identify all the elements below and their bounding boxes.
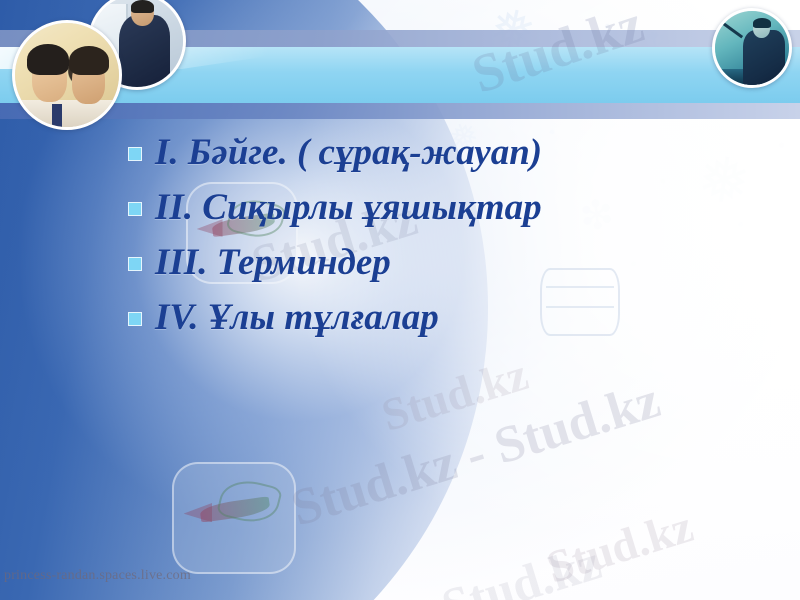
- man-at-desk-photo: [712, 8, 792, 88]
- necktie-shape: [52, 104, 61, 127]
- square-bullet-icon: [128, 257, 142, 271]
- hair-shape: [131, 0, 155, 13]
- shirt-shape: [15, 100, 119, 127]
- suit-shape: [743, 30, 784, 85]
- list-item-label: II. Сиқырлы ұяшықтар: [155, 189, 542, 228]
- students-at-laptop-photo: [12, 20, 122, 130]
- list-item-label: III. Терминдер: [155, 244, 391, 283]
- square-bullet-icon: [128, 202, 142, 216]
- list-item-label: IV. Ұлы тұлғалар: [155, 299, 439, 338]
- list-item[interactable]: III. Терминдер: [128, 236, 768, 291]
- presentation-slide: ❅ ❆ ❅ ❇ ❆ ❅: [0, 0, 800, 600]
- square-bullet-icon: [128, 312, 142, 326]
- list-item[interactable]: II. Сиқырлы ұяшықтар: [128, 181, 768, 236]
- hair-shape: [27, 44, 69, 75]
- list-item[interactable]: I. Бәйге. ( сұрақ-жауап): [128, 126, 768, 181]
- suit-shape: [119, 15, 171, 87]
- source-url-text: princess-randan.spaces.live.com: [4, 568, 191, 584]
- hair-shape: [69, 46, 109, 75]
- list-item-label: I. Бәйге. ( сұрақ-жауап): [155, 134, 542, 173]
- hummingbird-wing: [216, 475, 283, 529]
- list-item[interactable]: IV. Ұлы тұлғалар: [128, 291, 768, 346]
- hair-shape: [753, 18, 772, 28]
- header-band-lower: [0, 103, 800, 119]
- slide-bullet-list: I. Бәйге. ( сұрақ-жауап) II. Сиқырлы ұяш…: [128, 126, 768, 346]
- square-bullet-icon: [128, 147, 142, 161]
- pointer-shape: [722, 22, 744, 39]
- hummingbird-logo-watermark: [172, 462, 296, 574]
